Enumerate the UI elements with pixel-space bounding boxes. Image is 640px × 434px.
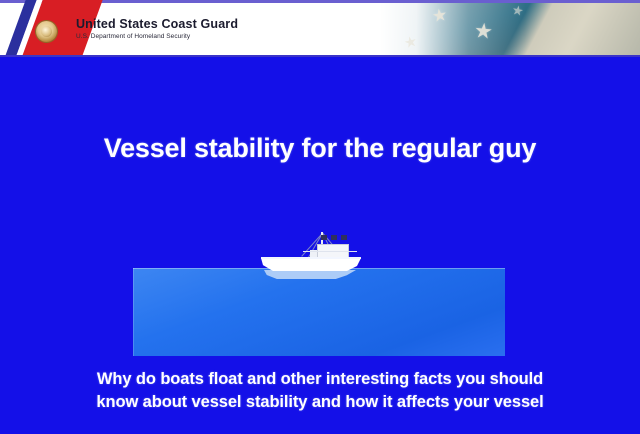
boat-window — [331, 235, 337, 240]
boat-hull — [261, 258, 361, 271]
boat-window — [321, 235, 327, 240]
flag-star-icon: ★ — [511, 3, 525, 18]
boat-deck-line — [261, 257, 361, 259]
agency-text-group: United States Coast Guard U.S. Departmen… — [76, 17, 238, 41]
us-flag-icon: ★ ★ ★ ★ — [380, 3, 640, 57]
slide-subtitle-line-2: know about vessel stability and how it a… — [0, 391, 640, 414]
boat-submerged-hull — [264, 270, 356, 279]
flag-star-icon: ★ — [431, 6, 449, 25]
coast-guard-seal-icon — [36, 21, 57, 42]
slide-subtitle: Why do boats float and other interesting… — [0, 368, 640, 414]
coast-guard-header-band: ★ ★ ★ ★ United States Coast Guard U.S. D… — [0, 0, 640, 57]
flag-star-icon: ★ — [402, 34, 419, 52]
boat-window — [341, 235, 347, 240]
fishing-vessel-icon — [255, 232, 367, 282]
agency-title: United States Coast Guard — [76, 17, 238, 31]
slide-title: Vessel stability for the regular guy — [0, 133, 640, 164]
slide-subtitle-line-1: Why do boats float and other interesting… — [0, 368, 640, 391]
header-bottom-rule — [0, 55, 640, 57]
agency-subtitle: U.S. Department of Homeland Security — [76, 32, 238, 41]
flag-star-icon: ★ — [473, 20, 494, 43]
presentation-slide: ★ ★ ★ ★ United States Coast Guard U.S. D… — [0, 0, 640, 434]
